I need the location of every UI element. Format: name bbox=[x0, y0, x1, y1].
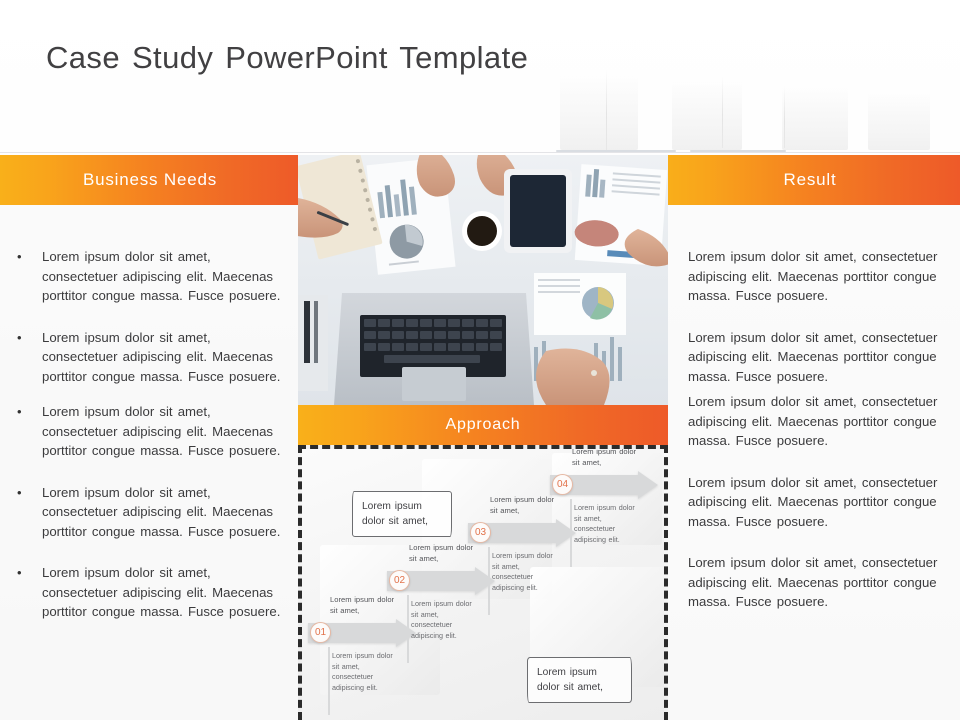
bullet-icon: • bbox=[16, 563, 30, 583]
approach-step-01-number: 01 bbox=[310, 622, 331, 643]
approach-step-04[interactable]: Lorem ipsum dolor sit amet, 04 Lorem ips… bbox=[550, 471, 658, 567]
list-item: Lorem ipsum dolor sit amet, consectetuer… bbox=[688, 553, 946, 612]
slide-canvas: Case Study PowerPoint Template Business … bbox=[0, 0, 960, 720]
list-item-text: Lorem ipsum dolor sit amet, consectetuer… bbox=[30, 483, 284, 542]
list-item: Lorem ipsum dolor sit amet, consectetuer… bbox=[688, 392, 946, 451]
list-item: • Lorem ipsum dolor sit amet, consectetu… bbox=[16, 247, 284, 306]
list-item: Lorem ipsum dolor sit amet, consectetuer… bbox=[688, 473, 946, 532]
result-header: Result bbox=[660, 155, 960, 205]
approach-header: Approach bbox=[298, 405, 668, 445]
list-item-text: Lorem ipsum dolor sit amet, consectetuer… bbox=[30, 247, 284, 306]
business-team-desk-photo bbox=[298, 155, 668, 405]
list-item: Lorem ipsum dolor sit amet, consectetuer… bbox=[688, 328, 946, 387]
step-01-stem bbox=[328, 647, 330, 715]
list-item: • Lorem ipsum dolor sit amet, consectetu… bbox=[16, 402, 284, 461]
list-item-text: Lorem ipsum dolor sit amet, consectetuer… bbox=[30, 402, 284, 461]
approach-step-02-number: 02 bbox=[389, 570, 410, 591]
list-item: Lorem ipsum dolor sit amet, consectetuer… bbox=[688, 247, 946, 306]
approach-step-03-number: 03 bbox=[470, 522, 491, 543]
photo-illustration bbox=[298, 155, 668, 405]
step-03-stem bbox=[488, 547, 490, 615]
bullet-icon: • bbox=[16, 402, 30, 422]
approach-heading-label: Approach bbox=[446, 416, 521, 434]
list-item: • Lorem ipsum dolor sit amet, consectetu… bbox=[16, 328, 284, 387]
list-item: • Lorem ipsum dolor sit amet, consectetu… bbox=[16, 483, 284, 542]
approach-callout-2: Lorem ipsum dolor sit amet, bbox=[527, 657, 632, 703]
list-item-text: Lorem ipsum dolor sit amet, consectetuer… bbox=[30, 328, 284, 387]
step-02-stem bbox=[407, 595, 409, 663]
list-item-text: Lorem ipsum dolor sit amet, consectetuer… bbox=[30, 563, 284, 622]
result-panel: Lorem ipsum dolor sit amet, consectetuer… bbox=[660, 205, 960, 720]
business-needs-header: Business Needs bbox=[0, 155, 300, 205]
bullet-icon: • bbox=[16, 247, 30, 267]
bullet-icon: • bbox=[16, 483, 30, 503]
bullet-icon: • bbox=[16, 328, 30, 348]
list-item: • Lorem ipsum dolor sit amet, consectetu… bbox=[16, 563, 284, 622]
approach-step-04-body: Lorem ipsum dolor sit amet, consectetuer… bbox=[574, 503, 642, 545]
result-heading-label: Result bbox=[784, 170, 837, 190]
page-title: Case Study PowerPoint Template bbox=[46, 40, 528, 76]
approach-diagram-panel: Lorem ipsum dolor sit amet, 01 Lorem ips… bbox=[298, 445, 668, 720]
approach-callout-1: Lorem ipsum dolor sit amet, bbox=[352, 491, 452, 537]
approach-step-04-label: Lorem ipsum dolor sit amet, bbox=[572, 447, 646, 468]
approach-step-04-number: 04 bbox=[552, 474, 573, 495]
business-needs-heading-label: Business Needs bbox=[83, 170, 217, 190]
step-04-stem bbox=[570, 499, 572, 567]
business-needs-panel: • Lorem ipsum dolor sit amet, consectetu… bbox=[0, 205, 300, 720]
